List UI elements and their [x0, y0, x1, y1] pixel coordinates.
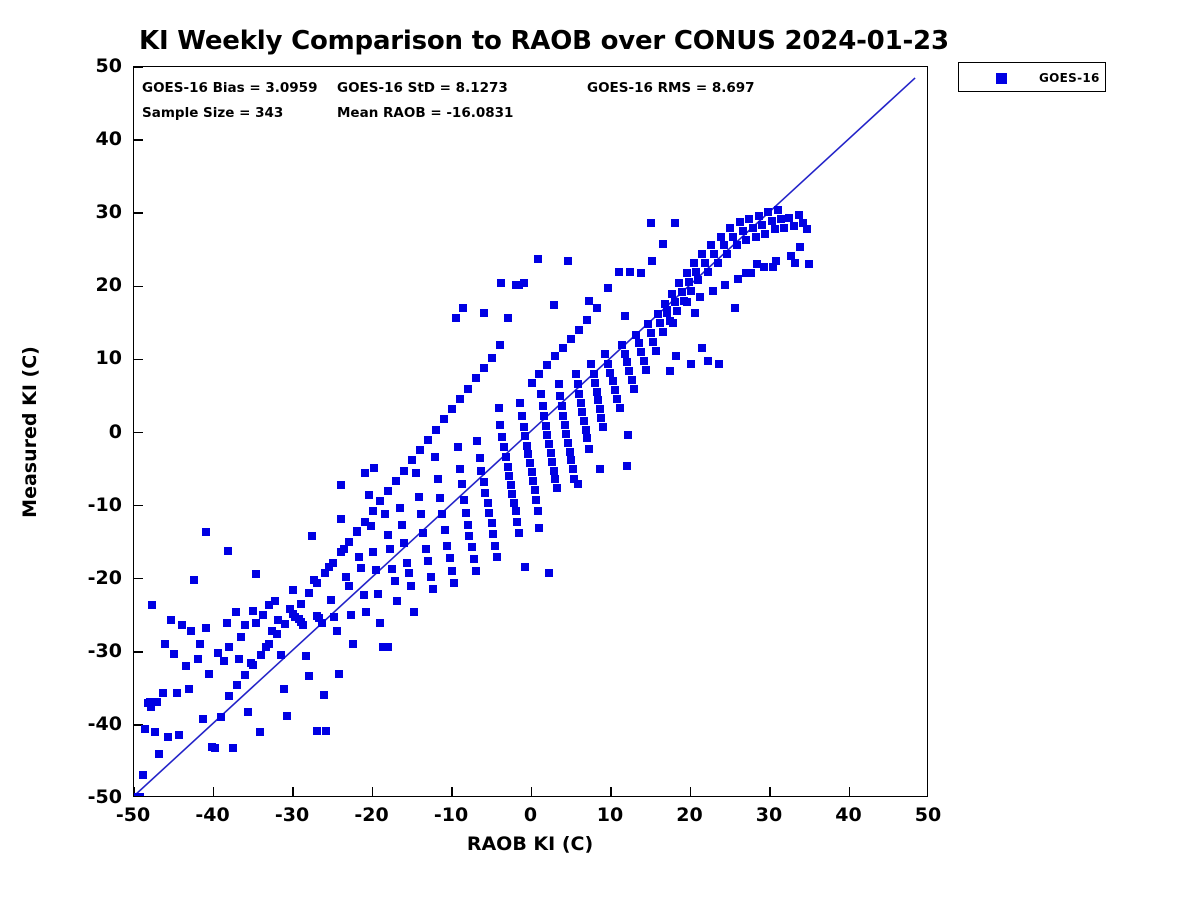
scatter-point [372, 566, 380, 574]
scatter-point [302, 652, 310, 660]
scatter-point [591, 379, 599, 387]
scatter-point [289, 586, 297, 594]
scatter-point [400, 467, 408, 475]
scatter-point [480, 309, 488, 317]
scatter-point [396, 504, 404, 512]
scatter-point [769, 263, 777, 271]
scatter-point [318, 619, 326, 627]
scatter-point [170, 650, 178, 658]
scatter-point [659, 240, 667, 248]
scatter-point [187, 627, 195, 635]
scatter-point [692, 268, 700, 276]
scatter-point [496, 341, 504, 349]
scatter-point [217, 713, 225, 721]
scatter-point [510, 499, 518, 507]
scatter-point [663, 306, 671, 314]
scatter-point [698, 250, 706, 258]
legend-swatch-goes16 [996, 73, 1007, 84]
scatter-point [495, 404, 503, 412]
scatter-point [283, 712, 291, 720]
scatter-point [410, 608, 418, 616]
x-tick-label: 40 [835, 804, 861, 826]
scatter-point [654, 310, 662, 318]
scatter-point [555, 380, 563, 388]
scatter-point [257, 651, 265, 659]
scatter-point [384, 643, 392, 651]
y-tick-label: 10 [58, 347, 122, 369]
stat-rms: GOES-16 RMS = 8.697 [587, 80, 755, 96]
scatter-point [136, 793, 144, 796]
scatter-point [265, 640, 273, 648]
scatter-point [281, 620, 289, 628]
scatter-point [476, 454, 484, 462]
scatter-point [574, 480, 582, 488]
scatter-point [687, 360, 695, 368]
scatter-point [365, 491, 373, 499]
scatter-point [543, 361, 551, 369]
scatter-point [419, 529, 427, 537]
scatter-point [308, 532, 316, 540]
scatter-point [753, 260, 761, 268]
scatter-point [220, 657, 228, 665]
scatter-point [805, 260, 813, 268]
scatter-point [496, 421, 504, 429]
y-tick [134, 432, 143, 434]
scatter-point [464, 385, 472, 393]
scatter-point [717, 233, 725, 241]
scatter-point [597, 414, 605, 422]
scatter-point [590, 370, 598, 378]
scatter-point [515, 529, 523, 537]
scatter-point [500, 443, 508, 451]
scatter-point [360, 591, 368, 599]
scatter-point [374, 590, 382, 598]
scatter-point [249, 661, 257, 669]
scatter-point [432, 426, 440, 434]
scatter-point [704, 357, 712, 365]
scatter-point [564, 257, 572, 265]
scatter-point [729, 233, 737, 241]
y-tick-label: -20 [58, 567, 122, 589]
scatter-point [202, 528, 210, 536]
scatter-point [574, 380, 582, 388]
scatter-point [202, 624, 210, 632]
y-tick [134, 212, 143, 214]
scatter-point [704, 268, 712, 276]
scatter-point [151, 728, 159, 736]
scatter-point [271, 597, 279, 605]
scatter-point [305, 589, 313, 597]
scatter-point [502, 453, 510, 461]
scatter-point [480, 478, 488, 486]
scatter-point [594, 396, 602, 404]
scatter-point [429, 585, 437, 593]
scatter-point [497, 279, 505, 287]
scatter-point [736, 218, 744, 226]
scatter-point [761, 230, 769, 238]
scatter-point [225, 692, 233, 700]
y-tick-label: -40 [58, 713, 122, 735]
x-tick-label: 20 [676, 804, 702, 826]
scatter-point [532, 496, 540, 504]
scatter-point [668, 290, 676, 298]
scatter-point [417, 510, 425, 518]
scatter-point [355, 553, 363, 561]
scatter-point [559, 344, 567, 352]
scatter-point [567, 456, 575, 464]
scatter-point [683, 298, 691, 306]
scatter-point [777, 215, 785, 223]
scatter-point [440, 415, 448, 423]
stat-sample-size: Sample Size = 343 [142, 105, 283, 121]
scatter-point [796, 243, 804, 251]
scatter-point [755, 212, 763, 220]
scatter-point [551, 475, 559, 483]
scatter-point [470, 555, 478, 563]
scatter-point [515, 281, 523, 289]
scatter-point [535, 370, 543, 378]
scatter-point [513, 518, 521, 526]
scatter-point [774, 206, 782, 214]
scatter-point [520, 423, 528, 431]
scatter-point [345, 582, 353, 590]
scatter-point [362, 608, 370, 616]
scatter-point [790, 222, 798, 230]
scatter-point [498, 433, 506, 441]
scatter-point [381, 510, 389, 518]
scatter-point [477, 467, 485, 475]
x-tick [372, 787, 374, 796]
scatter-point [561, 421, 569, 429]
scatter-point [726, 224, 734, 232]
scatter-point [752, 233, 760, 241]
y-tick-label: -30 [58, 640, 122, 662]
scatter-point [408, 456, 416, 464]
scatter-point [153, 698, 161, 706]
scatter-point [803, 225, 811, 233]
scatter-point [659, 328, 667, 336]
scatter-point [434, 475, 442, 483]
scatter-point [625, 367, 633, 375]
scatter-point [233, 681, 241, 689]
scatter-point [232, 608, 240, 616]
x-tick [531, 787, 533, 796]
scatter-point [391, 577, 399, 585]
scatter-point [531, 486, 539, 494]
scatter-point [182, 662, 190, 670]
scatter-point [635, 339, 643, 347]
scatter-point [427, 573, 435, 581]
scatter-point [564, 439, 572, 447]
scatter-point [691, 309, 699, 317]
scatter-point [370, 464, 378, 472]
scatter-point [648, 257, 656, 265]
scatter-point [537, 390, 545, 398]
scatter-point [714, 259, 722, 267]
scatter-point [392, 477, 400, 485]
scatter-point [528, 468, 536, 476]
scatter-point [454, 443, 462, 451]
scatter-point [701, 259, 709, 267]
scatter-point [621, 350, 629, 358]
scatter-point [628, 376, 636, 384]
scatter-point [446, 554, 454, 562]
scatter-point [384, 531, 392, 539]
scatter-point [758, 221, 766, 229]
scatter-point [583, 316, 591, 324]
x-tick-label: 0 [524, 804, 537, 826]
scatter-point [791, 259, 799, 267]
one-to-one-reference-line [134, 67, 927, 796]
x-tick-label: 50 [915, 804, 941, 826]
scatter-point [349, 640, 357, 648]
scatter-point [553, 484, 561, 492]
x-axis-label: RAOB KI (C) [467, 833, 593, 855]
scatter-point [534, 255, 542, 263]
x-tick [769, 787, 771, 796]
y-tick-label: 20 [58, 274, 122, 296]
x-tick [849, 787, 851, 796]
scatter-point [196, 640, 204, 648]
y-tick [134, 139, 143, 141]
scatter-point [548, 458, 556, 466]
x-tick-label: -10 [434, 804, 468, 826]
scatter-point [473, 437, 481, 445]
scatter-point [273, 630, 281, 638]
scatter-point [734, 275, 742, 283]
scatter-point [148, 601, 156, 609]
scatter-point [577, 399, 585, 407]
scatter-point [671, 298, 679, 306]
plot-canvas [134, 67, 927, 796]
scatter-point [190, 576, 198, 584]
scatter-point [715, 360, 723, 368]
scatter-point [508, 490, 516, 498]
scatter-point [580, 417, 588, 425]
scatter-point [491, 542, 499, 550]
scatter-point [507, 481, 515, 489]
scatter-point [361, 469, 369, 477]
scatter-point [464, 521, 472, 529]
scatter-point [424, 436, 432, 444]
scatter-point [512, 507, 520, 515]
scatter-point [642, 366, 650, 374]
scatter-point [545, 569, 553, 577]
scatter-point [723, 250, 731, 258]
scatter-point [472, 567, 480, 575]
scatter-point [229, 744, 237, 752]
scatter-point [472, 374, 480, 382]
scatter-point [223, 619, 231, 627]
scatter-point [585, 445, 593, 453]
scatter-point [524, 450, 532, 458]
scatter-point [357, 564, 365, 572]
scatter-point [780, 224, 788, 232]
scatter-point [623, 358, 631, 366]
y-tick [134, 651, 143, 653]
x-tick-label: 30 [756, 804, 782, 826]
scatter-point [539, 402, 547, 410]
scatter-point [609, 377, 617, 385]
stat-bias: GOES-16 Bias = 3.0959 [142, 80, 317, 96]
legend: GOES-16 [958, 62, 1106, 92]
scatter-point [211, 744, 219, 752]
scatter-point [415, 493, 423, 501]
plot-area [133, 66, 928, 797]
legend-label-goes16: GOES-16 [1039, 71, 1100, 85]
scatter-point [540, 412, 548, 420]
scatter-point [733, 241, 741, 249]
scatter-point [593, 304, 601, 312]
scatter-point [329, 559, 337, 567]
scatter-point [448, 405, 456, 413]
scatter-point [456, 395, 464, 403]
y-tick-label: 40 [58, 128, 122, 150]
scatter-point [672, 352, 680, 360]
y-tick [134, 67, 143, 68]
scatter-point [452, 314, 460, 322]
scatter-point [369, 507, 377, 515]
scatter-point [535, 524, 543, 532]
scatter-point [656, 319, 664, 327]
scatter-point [528, 379, 536, 387]
scatter-point [742, 236, 750, 244]
scatter-point [259, 611, 267, 619]
y-tick-label: 50 [58, 55, 122, 77]
scatter-point [542, 422, 550, 430]
scatter-point [626, 268, 634, 276]
scatter-point [669, 319, 677, 327]
y-tick [134, 505, 143, 507]
scatter-point [333, 627, 341, 635]
scatter-point [613, 395, 621, 403]
scatter-point [504, 463, 512, 471]
scatter-point [707, 241, 715, 249]
scatter-point [225, 643, 233, 651]
scatter-point [647, 329, 655, 337]
scatter-point [249, 607, 257, 615]
x-tick [690, 787, 692, 796]
scatter-point [313, 727, 321, 735]
scatter-point [252, 570, 260, 578]
y-axis-label: Measured KI (C) [19, 346, 41, 518]
scatter-point [709, 287, 717, 295]
scatter-point [606, 369, 614, 377]
scatter-point [587, 360, 595, 368]
scatter-point [529, 477, 537, 485]
scatter-point [550, 301, 558, 309]
scatter-point [566, 448, 574, 456]
scatter-point [604, 360, 612, 368]
scatter-point [441, 526, 449, 534]
scatter-point [593, 388, 601, 396]
scatter-point [647, 219, 655, 227]
scatter-point [214, 649, 222, 657]
scatter-point [678, 288, 686, 296]
scatter-point [361, 518, 369, 526]
scatter-point [337, 515, 345, 523]
scatter-point [764, 208, 772, 216]
scatter-point [698, 344, 706, 352]
stat-std: GOES-16 StD = 8.1273 [337, 80, 508, 96]
scatter-point [322, 727, 330, 735]
scatter-point [644, 320, 652, 328]
scatter-point [623, 462, 631, 470]
x-tick [451, 787, 453, 796]
scatter-point [488, 354, 496, 362]
scatter-point [173, 689, 181, 697]
scatter-point [599, 423, 607, 431]
scatter-point [630, 385, 638, 393]
scatter-point [416, 446, 424, 454]
scatter-point [462, 509, 470, 517]
scatter-point [516, 399, 524, 407]
scatter-point [393, 597, 401, 605]
scatter-point [185, 685, 193, 693]
scatter-point [412, 469, 420, 477]
scatter-point [224, 547, 232, 555]
scatter-point [696, 293, 704, 301]
scatter-point [289, 610, 297, 618]
scatter-point [456, 465, 464, 473]
scatter-point [480, 364, 488, 372]
scatter-point [521, 432, 529, 440]
scatter-point [353, 528, 361, 536]
scatter-point [305, 672, 313, 680]
scatter-point [403, 559, 411, 567]
scatter-point [601, 350, 609, 358]
scatter-point [159, 689, 167, 697]
scatter-point [739, 227, 747, 235]
x-tick-label: -30 [275, 804, 309, 826]
scatter-point [161, 640, 169, 648]
scatter-point [683, 269, 691, 277]
scatter-point [637, 348, 645, 356]
page-title: KI Weekly Comparison to RAOB over CONUS … [139, 26, 949, 56]
scatter-point [504, 314, 512, 322]
scatter-point [710, 250, 718, 258]
scatter-point [405, 569, 413, 577]
scatter-point [407, 582, 415, 590]
scatter-point [335, 670, 343, 678]
scatter-point [384, 487, 392, 495]
y-tick-label: 30 [58, 201, 122, 223]
scatter-point [164, 733, 172, 741]
x-tick [213, 787, 215, 796]
scatter-point [235, 655, 243, 663]
scatter-point [342, 573, 350, 581]
scatter-point [205, 670, 213, 678]
scatter-point [550, 467, 558, 475]
scatter-point [596, 465, 604, 473]
scatter-point [141, 725, 149, 733]
scatter-point [624, 431, 632, 439]
scatter-point [321, 569, 329, 577]
scatter-point [618, 341, 626, 349]
scatter-point [443, 542, 451, 550]
scatter-point [485, 509, 493, 517]
scatter-point [199, 715, 207, 723]
scatter-point [424, 557, 432, 565]
scatter-point [431, 453, 439, 461]
scatter-point [313, 579, 321, 587]
scatter-point [569, 465, 577, 473]
scatter-point [652, 347, 660, 355]
y-tick-label: 0 [58, 421, 122, 443]
x-tick-label: 10 [597, 804, 623, 826]
scatter-point [596, 405, 604, 413]
scatter-point [575, 326, 583, 334]
